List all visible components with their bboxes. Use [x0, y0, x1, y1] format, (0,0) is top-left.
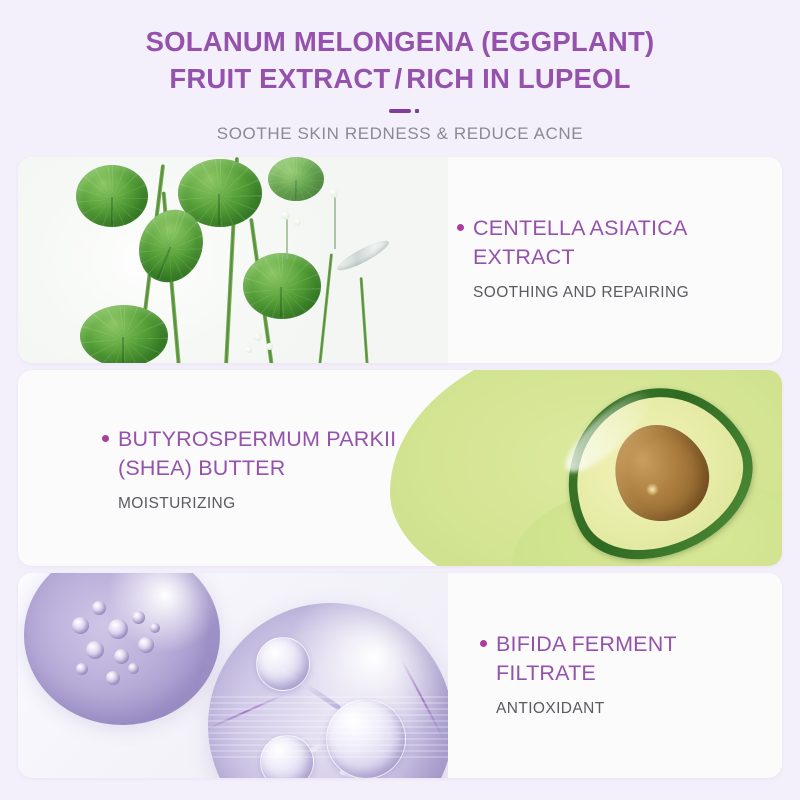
ingredient-benefit: ANTIOXIDANT: [496, 700, 766, 718]
bifida-text-block: BIFIDA FERMENT FILTRATE ANTIOXIDANT: [496, 630, 766, 718]
title-divider: [0, 104, 800, 120]
ingredient-name: CENTELLA ASIATICA EXTRACT: [473, 214, 753, 271]
centella-leaf: [243, 253, 321, 319]
title-line-1: SOLANUM MELONGENA (EGGPLANT): [0, 24, 800, 61]
centella-leaf: [268, 157, 324, 201]
molecule-bubbles-image: [18, 573, 448, 778]
header: SOLANUM MELONGENA (EGGPLANT) FRUIT EXTRA…: [0, 0, 800, 144]
page-subtitle: SOOTHE SKIN REDNESS & REDUCE ACNE: [0, 124, 800, 144]
title-line-2-part-a: FRUIT EXTRACT: [169, 63, 390, 94]
title-separator: /: [390, 63, 406, 94]
dot-bullet-icon: [457, 224, 464, 231]
shea-text-block: BUTYROSPERMUM PARKII (SHEA) BUTTER MOIST…: [118, 425, 418, 513]
dot-bullet-icon: [102, 435, 109, 442]
title-line-2: FRUIT EXTRACT/RICH IN LUPEOL: [0, 61, 800, 98]
ingredient-card-centella[interactable]: CENTELLA ASIATICA EXTRACT SOOTHING AND R…: [18, 157, 782, 363]
ingredient-name-text: BIFIDA FERMENT FILTRATE: [496, 632, 676, 685]
ingredient-name-text: CENTELLA ASIATICA EXTRACT: [473, 216, 686, 269]
dot-bullet-icon: [480, 640, 487, 647]
avocado-image: [362, 370, 782, 566]
ingredient-card-shea[interactable]: BUTYROSPERMUM PARKII (SHEA) BUTTER MOIST…: [18, 370, 782, 566]
centella-leaf: [80, 305, 168, 363]
large-bubble: [208, 603, 448, 778]
card-inner: CENTELLA ASIATICA EXTRACT SOOTHING AND R…: [18, 157, 782, 363]
card-inner: BIFIDA FERMENT FILTRATE ANTIOXIDANT: [18, 573, 782, 778]
molecule-cluster: [62, 593, 182, 703]
ingredient-name: BUTYROSPERMUM PARKII (SHEA) BUTTER: [118, 425, 418, 482]
inner-molecule-ball: [260, 735, 314, 778]
inner-molecule-ball: [256, 637, 310, 691]
centella-leaves-image: [18, 157, 448, 363]
centella-text-block: CENTELLA ASIATICA EXTRACT SOOTHING AND R…: [473, 214, 753, 302]
ingredient-card-bifida[interactable]: BIFIDA FERMENT FILTRATE ANTIOXIDANT: [18, 573, 782, 778]
divider-bar: [389, 109, 411, 113]
ingredient-name-text: BUTYROSPERMUM PARKII (SHEA) BUTTER: [118, 427, 396, 480]
silver-leaf-highlight: [334, 236, 391, 275]
ingredient-name: BIFIDA FERMENT FILTRATE: [496, 630, 766, 687]
title-line-2-part-b: RICH IN LUPEOL: [406, 63, 630, 94]
divider-dot: [415, 109, 419, 113]
inner-molecule-ball: [326, 699, 406, 778]
card-inner: BUTYROSPERMUM PARKII (SHEA) BUTTER MOIST…: [18, 370, 782, 566]
centella-leaf: [76, 165, 148, 227]
ingredient-benefit: SOOTHING AND REPAIRING: [473, 284, 753, 302]
page-title: SOLANUM MELONGENA (EGGPLANT) FRUIT EXTRA…: [0, 24, 800, 97]
ingredient-benefit: MOISTURIZING: [118, 495, 418, 513]
